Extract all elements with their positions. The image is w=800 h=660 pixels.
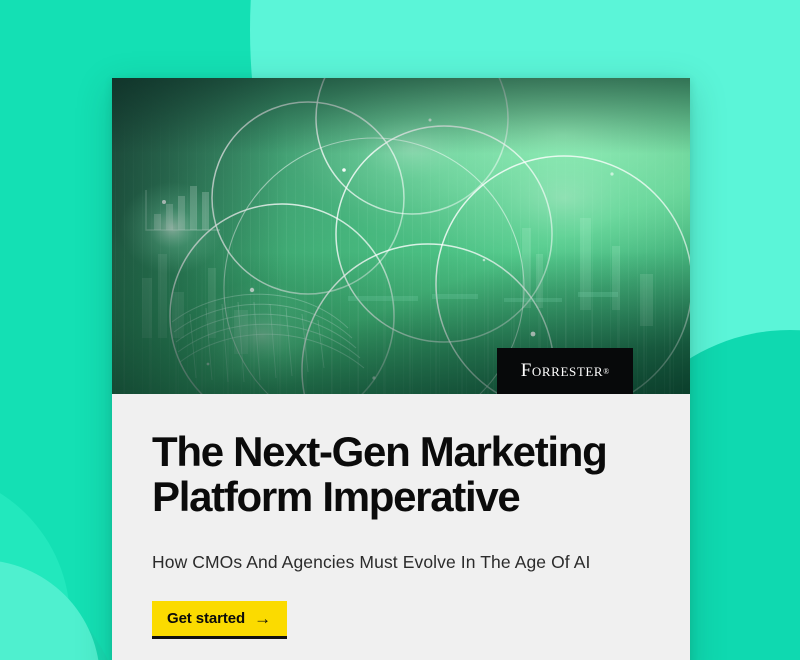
hero-vignette — [112, 78, 690, 394]
forrester-logo: Forrester® — [497, 348, 633, 394]
arrow-right-icon: → — [254, 610, 271, 627]
hero-image: Forrester® — [112, 78, 690, 394]
forrester-trademark-icon: ® — [603, 367, 609, 376]
page-title: The Next-Gen Marketing Platform Imperati… — [152, 430, 622, 520]
report-card: Forrester® The Next-Gen Marketing Platfo… — [112, 78, 690, 660]
forrester-wordmark: Forrester — [521, 360, 603, 382]
get-started-button[interactable]: Get started → — [152, 601, 287, 639]
card-body: The Next-Gen Marketing Platform Imperati… — [112, 394, 690, 660]
page-backdrop: Forrester® The Next-Gen Marketing Platfo… — [0, 0, 800, 660]
get-started-label: Get started — [167, 611, 245, 626]
page-subtitle: How CMOs And Agencies Must Evolve In The… — [152, 552, 650, 573]
